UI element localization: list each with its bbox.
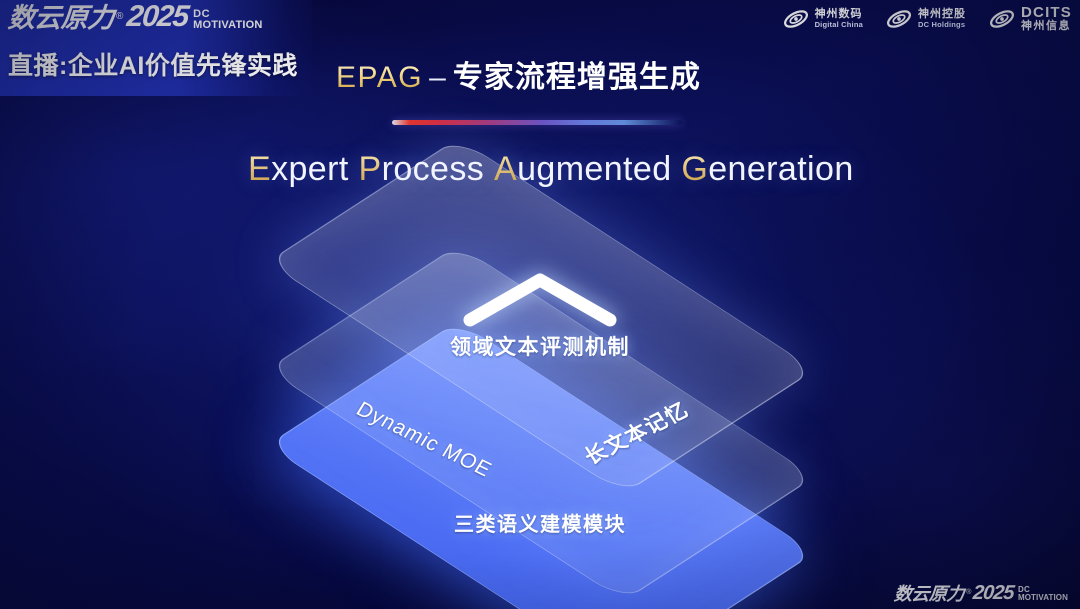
gradient-divider bbox=[392, 120, 682, 125]
subtitle-cap-a: A bbox=[494, 150, 517, 188]
brand-registered-mark: ® bbox=[116, 12, 123, 22]
watermark-name-cn: 数云原力 bbox=[894, 585, 965, 603]
page-subtitle: Expert Process Augmented Generation bbox=[248, 150, 854, 189]
partner-logo-text: DCITS 神州信息 bbox=[1021, 5, 1072, 33]
partner-logo-digital-china: 神州数码 Digital China bbox=[782, 6, 863, 32]
watermark-motivation-label: MOTIVATION bbox=[1018, 594, 1068, 602]
partner-name-en: Digital China bbox=[815, 21, 863, 29]
brand-year: 2025 bbox=[126, 2, 190, 32]
brand-lockup: 数云原力 ® 2025 DC MOTIVATION bbox=[8, 2, 263, 32]
title-chinese: 专家流程增强生成 bbox=[453, 61, 701, 94]
watermark-registered-mark: ® bbox=[966, 589, 971, 596]
watermark-dc-motivation: DC MOTIVATION bbox=[1018, 586, 1068, 603]
subtitle-rest-expert: xpert bbox=[271, 150, 349, 188]
brand-motivation-label: MOTIVATION bbox=[193, 20, 262, 31]
watermark-year: 2025 bbox=[972, 583, 1015, 603]
swirl-icon bbox=[885, 6, 913, 32]
partner-logo-text: 神州控股 DC Holdings bbox=[918, 9, 966, 29]
chevron-up-icon bbox=[460, 268, 620, 330]
diagram-label-bottom: 三类语义建模模块 bbox=[446, 508, 634, 537]
brand-dc-motivation: DC MOTIVATION bbox=[193, 9, 262, 32]
partner-logo-dc-holdings: 神州控股 DC Holdings bbox=[885, 6, 966, 32]
brand-name-cn: 数云原力 bbox=[7, 5, 115, 32]
subtitle-rest-process: rocess bbox=[382, 150, 485, 188]
title-acronym: EPAG bbox=[336, 61, 423, 94]
live-session-label: 直播:企业AI价值先锋实践 bbox=[8, 46, 298, 82]
partner-logo-text: 神州数码 Digital China bbox=[815, 9, 863, 29]
partner-name-cn: DCITS bbox=[1021, 5, 1072, 21]
partner-logo-group: 神州数码 Digital China 神州控股 DC Holdings bbox=[782, 5, 1072, 33]
subtitle-rest-generation: eneration bbox=[708, 150, 853, 188]
swirl-icon bbox=[988, 6, 1016, 32]
swirl-icon bbox=[782, 6, 810, 32]
slide-canvas: 数云原力 ® 2025 DC MOTIVATION 直播:企业AI价值先锋实践 … bbox=[0, 0, 1080, 609]
footer-watermark: 数云原力 ® 2025 DC MOTIVATION bbox=[894, 583, 1068, 603]
partner-name-en: 神州信息 bbox=[1021, 21, 1072, 33]
subtitle-cap-g: G bbox=[681, 150, 708, 188]
subtitle-cap-e: E bbox=[248, 150, 271, 188]
page-title: EPAG–专家流程增强生成 bbox=[336, 52, 701, 96]
partner-name-en: DC Holdings bbox=[918, 21, 966, 29]
subtitle-rest-augmented: ugmented bbox=[517, 150, 671, 188]
partner-logo-dcits: DCITS 神州信息 bbox=[988, 5, 1072, 33]
title-dash: – bbox=[429, 61, 447, 94]
diagram-label-top: 领域文本评测机制 bbox=[450, 331, 630, 361]
subtitle-cap-p: P bbox=[359, 150, 382, 188]
